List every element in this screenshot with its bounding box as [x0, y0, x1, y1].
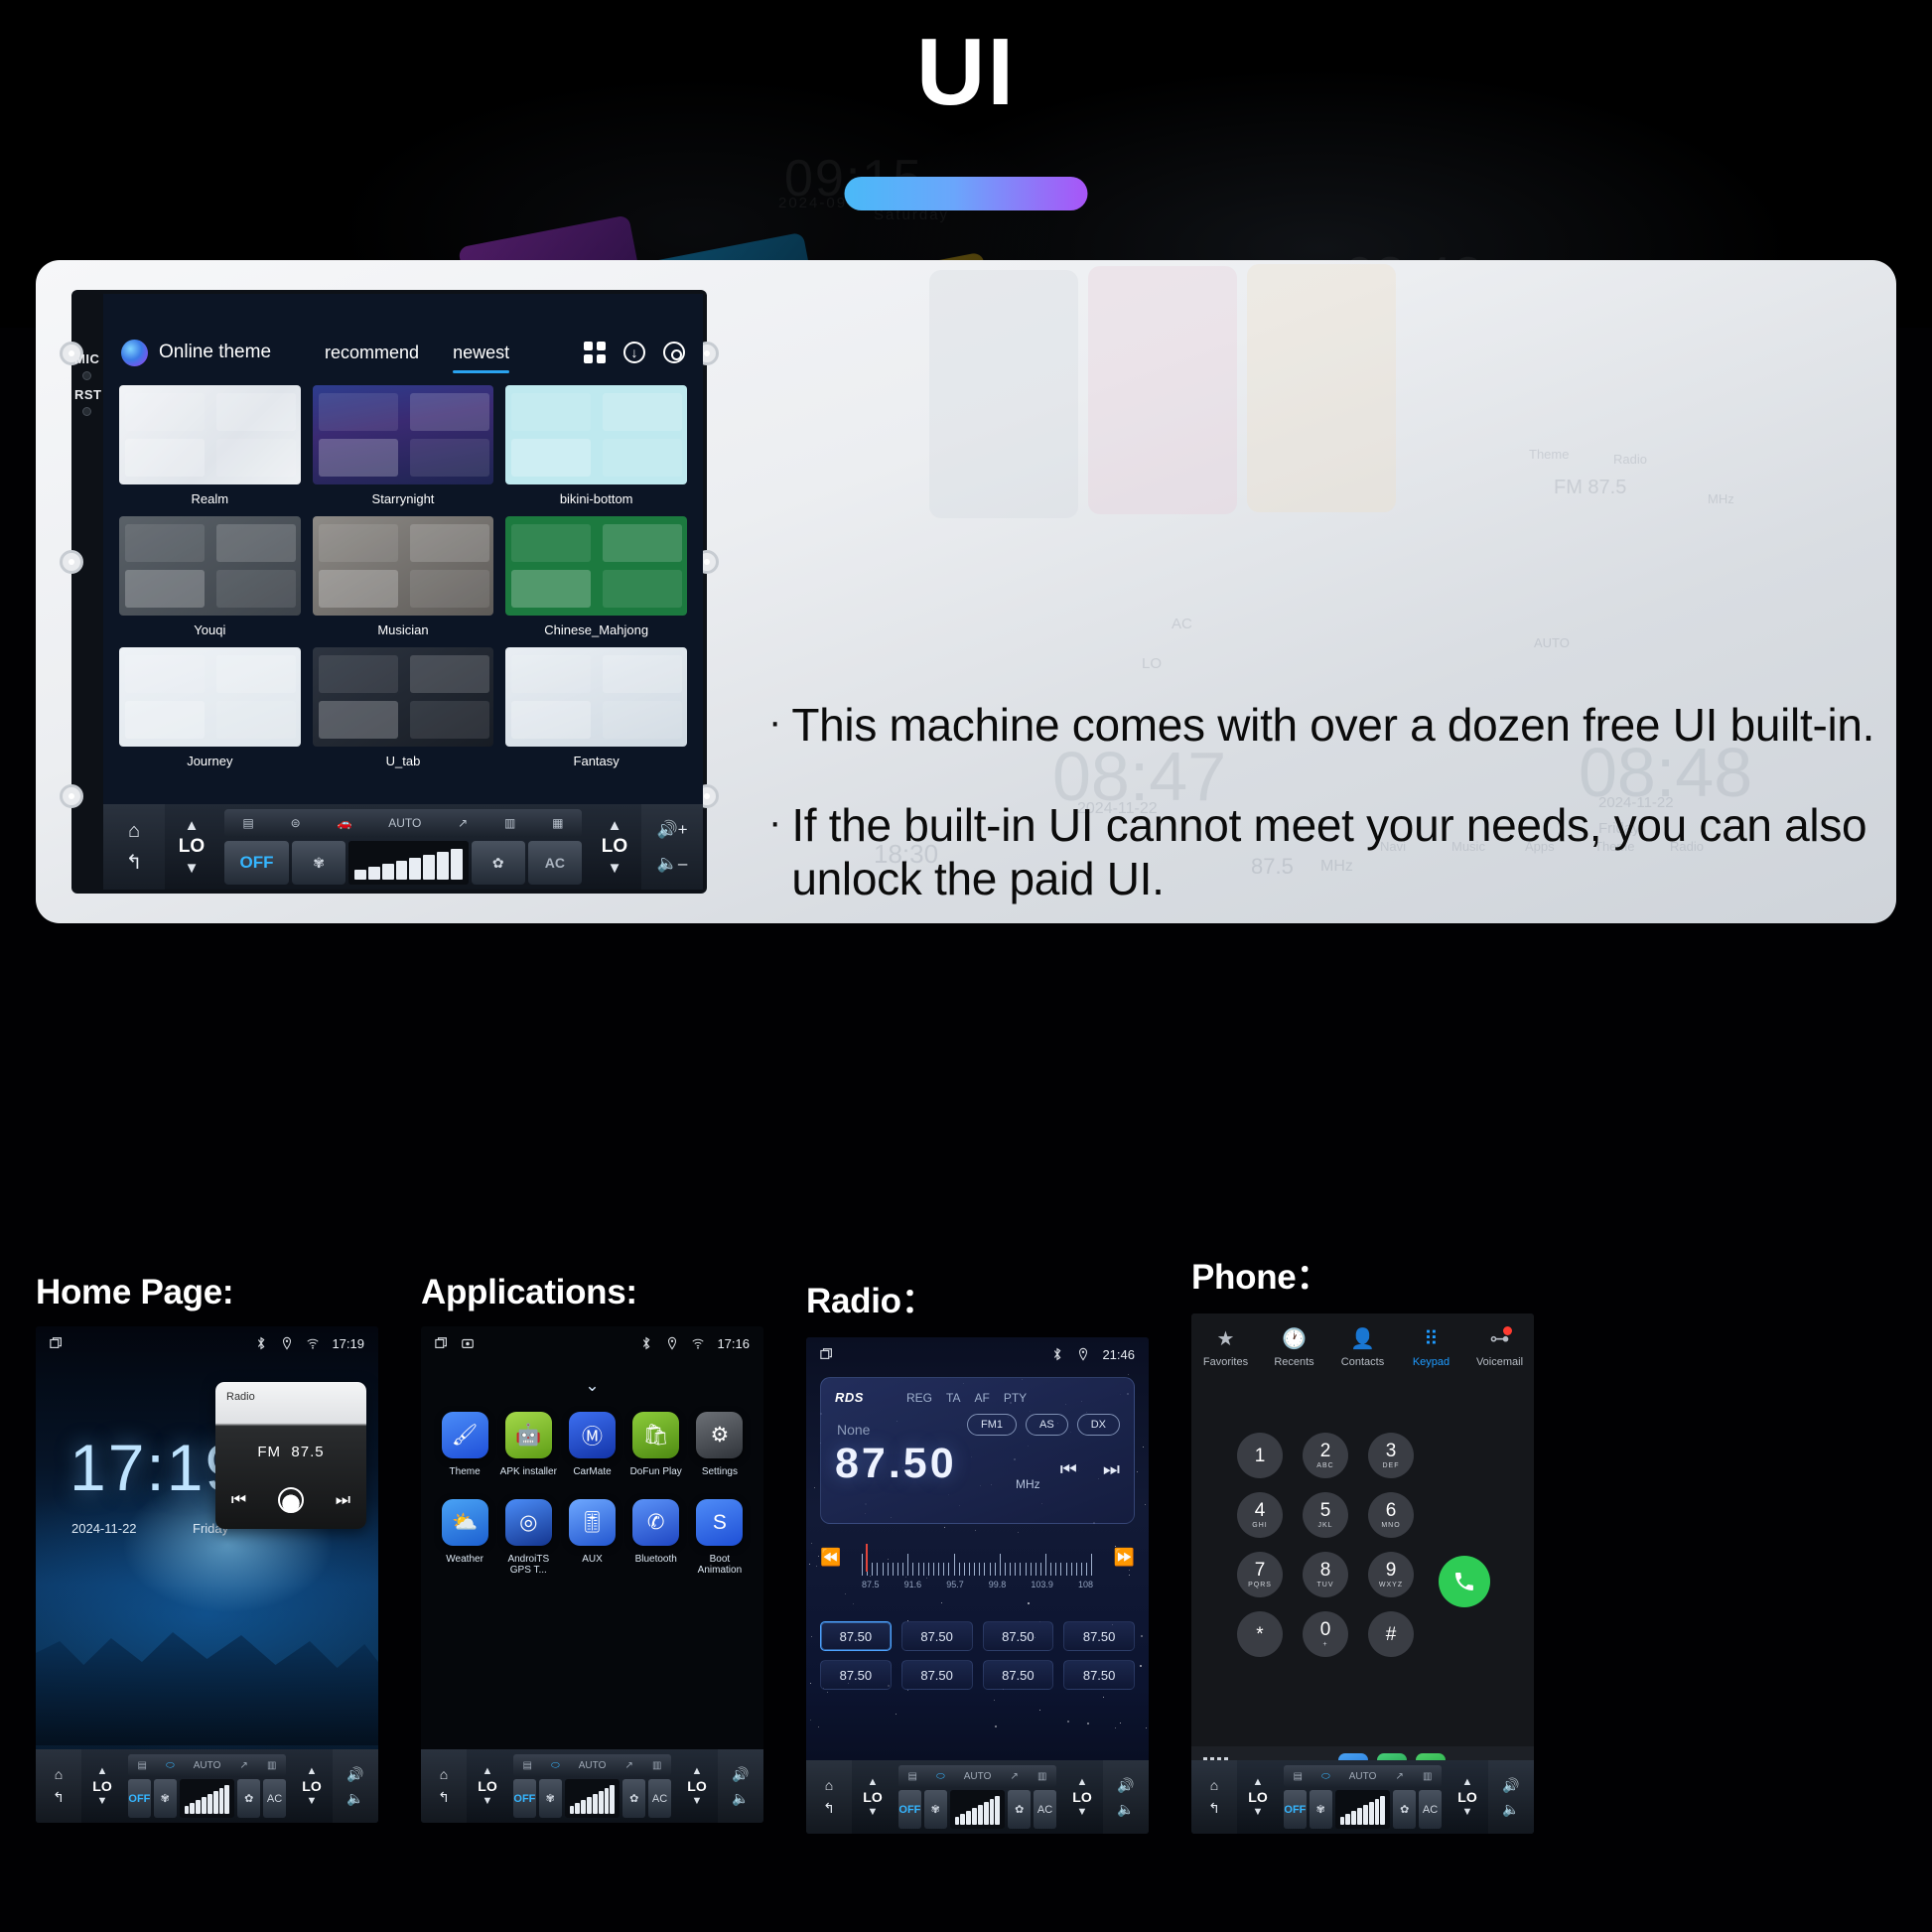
- app-label: DoFun Play: [630, 1466, 682, 1477]
- app-icon: ⛅: [442, 1499, 488, 1546]
- feature-panel: 08:472024-11-2208:482024-11-22Friday18:3…: [36, 260, 1896, 923]
- fan-down-icon[interactable]: ✾: [1310, 1790, 1332, 1829]
- temp-down-icon[interactable]: ▼: [483, 1795, 493, 1807]
- radio-preset[interactable]: 87.50: [983, 1621, 1054, 1651]
- key-number: 7: [1255, 1561, 1266, 1580]
- fan-level-bars[interactable]: [348, 841, 468, 885]
- radio-preset[interactable]: 87.50: [820, 1660, 892, 1690]
- app-item[interactable]: SBoot Animation: [688, 1499, 752, 1576]
- auto-label[interactable]: AUTO: [194, 1760, 221, 1771]
- seat-heat-icon[interactable]: ▤: [908, 1771, 917, 1782]
- temp-up-icon[interactable]: ▲: [868, 1776, 879, 1788]
- dial-tick: [974, 1563, 975, 1576]
- ac-button[interactable]: AC: [263, 1779, 286, 1818]
- back-icon[interactable]: ↰: [53, 1789, 65, 1806]
- front-defrost-icon[interactable]: ▥: [1423, 1771, 1432, 1782]
- ac-button[interactable]: AC: [1034, 1790, 1056, 1829]
- preset-grid: 87.5087.5087.5087.5087.5087.5087.5087.50: [820, 1621, 1135, 1690]
- theme-name: Starrynight: [313, 491, 494, 506]
- fan-up-icon[interactable]: ✿: [1393, 1790, 1416, 1829]
- radio-preset[interactable]: 87.50: [820, 1621, 892, 1651]
- theme-store-header: Online theme recommend newest: [103, 324, 703, 381]
- radio-widget[interactable]: Radio FM 87.5 ⏮ ⏭: [215, 1382, 366, 1529]
- temp-left-value: LO: [863, 1789, 882, 1805]
- radio-preset[interactable]: 87.50: [901, 1621, 973, 1651]
- radio-preset[interactable]: 87.50: [901, 1660, 973, 1690]
- panel-ghost-text: LO: [1142, 655, 1162, 672]
- climate-buttons-radio: OFF ✾ ✿ AC: [898, 1790, 1056, 1829]
- back-icon[interactable]: ↰: [823, 1800, 835, 1817]
- home-icon[interactable]: ⌂: [440, 1766, 448, 1782]
- radio-widget-controls: ⏮ ⏭: [215, 1487, 366, 1513]
- theme-widget-preview: [319, 439, 398, 477]
- fan-off-button[interactable]: OFF: [898, 1790, 921, 1829]
- volume-down-icon[interactable]: 🔈: [1502, 1801, 1519, 1818]
- rds-label: RDS: [835, 1390, 864, 1405]
- theme-card[interactable]: Starrynight: [313, 385, 494, 506]
- fan-level-bars[interactable]: [180, 1779, 235, 1818]
- key-number: 4: [1255, 1501, 1266, 1520]
- fan-off-button[interactable]: OFF: [1284, 1790, 1307, 1829]
- temp-left-value: LO: [179, 836, 205, 858]
- climate-bar-radio: ⌂↰ ▲ LO ▼ ▤ ⬭ AUTO ↗ ▥ OFF: [806, 1760, 1149, 1834]
- phone-tab-recents[interactable]: 🕐Recents: [1260, 1329, 1328, 1391]
- status-time-apps: 17:16: [717, 1336, 750, 1351]
- dial-tick: [1071, 1563, 1072, 1576]
- radio-dial[interactable]: ⏪ 87.591.695.799.8103.9108 ⏩: [820, 1542, 1135, 1611]
- star: [810, 1683, 811, 1684]
- radio-widget-freq: FM 87.5: [215, 1444, 366, 1460]
- fan-up-icon[interactable]: ✿: [622, 1779, 645, 1818]
- dial-next-icon[interactable]: ⏩: [1114, 1548, 1135, 1568]
- dial-tick: [928, 1563, 929, 1576]
- temp-up-icon[interactable]: ▲: [1253, 1776, 1264, 1788]
- download-icon[interactable]: [623, 342, 645, 363]
- recents-icon[interactable]: [435, 1336, 449, 1350]
- theme-widget-preview: [125, 393, 205, 431]
- dial-key-*[interactable]: *: [1237, 1611, 1283, 1657]
- app-item[interactable]: ⚙Settings: [688, 1412, 752, 1477]
- radio-widget-value: 87.5: [291, 1444, 324, 1460]
- dial-tick: [959, 1563, 960, 1576]
- phone-tab-keypad[interactable]: ⠿Keypad: [1397, 1329, 1465, 1391]
- fan-down-icon[interactable]: ✾: [292, 841, 345, 885]
- temp-down-icon[interactable]: ▼: [97, 1795, 108, 1807]
- key-letters: TUV: [1317, 1582, 1334, 1588]
- radio-tags: REGTAAFPTY: [906, 1391, 1027, 1405]
- radio-seek-buttons: ⏮ ⏭: [1060, 1459, 1120, 1481]
- dial-tick: [995, 1563, 996, 1576]
- temp-left-phone[interactable]: ▲ LO ▼: [1237, 1776, 1279, 1818]
- seat-heat-icon[interactable]: ▤: [523, 1760, 532, 1771]
- ac-button[interactable]: AC: [1419, 1790, 1442, 1829]
- theme-card[interactable]: Youqi: [119, 516, 301, 637]
- home-icon[interactable]: ⌂: [1210, 1777, 1218, 1793]
- temp-left-radio[interactable]: ▲ LO ▼: [852, 1776, 894, 1818]
- recents-icon[interactable]: [50, 1336, 64, 1350]
- radio-tag[interactable]: REG: [906, 1391, 932, 1405]
- climate-bar: ⌂ ↰ ▲ LO ▼ ▤ ⊜ 🚗 AUTO ↗: [103, 804, 703, 890]
- nav-buttons-radio: ⌂↰: [806, 1760, 852, 1834]
- seek-next-icon[interactable]: ⏭: [1103, 1459, 1120, 1481]
- dial-tick: [918, 1563, 919, 1576]
- climate-bar-home: ⌂↰ ▲ LO ▼ ▤ ⬭ AUTO ↗ ▥ OFF: [36, 1749, 378, 1823]
- radio-preset[interactable]: 87.50: [1063, 1621, 1135, 1651]
- rear-defrost-icon[interactable]: ⊜: [291, 816, 301, 830]
- dial-key-3[interactable]: 3DEF: [1368, 1433, 1414, 1478]
- back-icon[interactable]: ↰: [1208, 1800, 1220, 1817]
- radio-tag[interactable]: AF: [974, 1391, 989, 1405]
- auto-label[interactable]: AUTO: [964, 1771, 992, 1782]
- dial-tick: [1045, 1554, 1046, 1576]
- dial-tick: [938, 1563, 939, 1576]
- radio-button-fm1[interactable]: FM1: [967, 1414, 1017, 1436]
- app-icon: ⚙: [696, 1412, 743, 1458]
- temp-up-icon[interactable]: ▲: [692, 1765, 703, 1777]
- dial-key-8[interactable]: 8TUV: [1303, 1552, 1348, 1597]
- temp-right[interactable]: ▲ LO ▼: [588, 817, 641, 877]
- temp-down-icon[interactable]: ▼: [307, 1795, 318, 1807]
- radio-button-dx[interactable]: DX: [1077, 1414, 1120, 1436]
- radio-mode-buttons: FM1ASDX: [967, 1414, 1120, 1436]
- power-icon[interactable]: [278, 1487, 304, 1513]
- temp-down-icon[interactable]: ▼: [868, 1806, 879, 1818]
- theme-name: Youqi: [119, 622, 301, 637]
- fan-bar: [423, 855, 435, 880]
- star: [994, 1700, 995, 1701]
- grid-icon[interactable]: [584, 342, 606, 363]
- phone-tab-contacts[interactable]: 👤Contacts: [1328, 1329, 1397, 1391]
- app-item[interactable]: ⛅Weather: [433, 1499, 496, 1576]
- theme-widget-preview: [410, 393, 489, 431]
- theme-widget-preview: [511, 655, 591, 693]
- dial-key-2[interactable]: 2ABC: [1303, 1433, 1348, 1478]
- temp-left-home[interactable]: ▲ LO ▼: [81, 1765, 123, 1807]
- temp-up-icon[interactable]: ▲: [483, 1765, 493, 1777]
- theme-card[interactable]: Musician: [313, 516, 494, 637]
- dial-label: 108: [1078, 1580, 1093, 1589]
- key-number: 1: [1255, 1447, 1266, 1465]
- app-item[interactable]: ✆Bluetooth: [624, 1499, 688, 1576]
- status-icons-radio: 21:46: [1050, 1347, 1135, 1362]
- key-number: 8: [1320, 1561, 1331, 1580]
- tab-recommend[interactable]: recommend: [325, 343, 419, 363]
- theme-widget-preview: [216, 524, 296, 562]
- temp-right-phone[interactable]: ▲ LO ▼: [1447, 1776, 1488, 1818]
- theme-widget-preview: [603, 655, 682, 693]
- bullet-item: · If the built-in UI cannot meet your ne…: [768, 799, 1896, 905]
- app-item[interactable]: 🛍DoFun Play: [624, 1412, 688, 1477]
- temp-up-icon[interactable]: ▲: [1077, 1776, 1088, 1788]
- dial-key-5[interactable]: 5JKL: [1303, 1492, 1348, 1538]
- radio-unit: MHz: [1016, 1477, 1040, 1491]
- temp-down-icon[interactable]: ▼: [1253, 1806, 1264, 1818]
- seat-heat-icon[interactable]: ▤: [138, 1760, 147, 1771]
- radio-tag[interactable]: PTY: [1004, 1391, 1027, 1405]
- section-heading-apps: Applications:: [421, 1273, 763, 1312]
- climate-modes: ▤ ⊜ 🚗 AUTO ↗ ▥ ▦: [224, 809, 582, 837]
- home-icon[interactable]: ⌂: [55, 1766, 63, 1782]
- theme-card[interactable]: Journey: [119, 647, 301, 768]
- wifi-icon: [306, 1336, 320, 1350]
- temp-left-value: LO: [1248, 1789, 1267, 1805]
- next-icon[interactable]: ⏭: [336, 1490, 350, 1510]
- theme-card[interactable]: bikini-bottom: [505, 385, 687, 506]
- phone-tab-voicemail[interactable]: ⊶Voicemail: [1465, 1329, 1534, 1391]
- panel-ghost-text: AUTO: [1534, 635, 1570, 650]
- volume-up-icon[interactable]: 🔊: [732, 1766, 749, 1783]
- temp-down-icon[interactable]: ▼: [692, 1795, 703, 1807]
- seek-prev-icon[interactable]: ⏮: [1060, 1459, 1077, 1481]
- seat-heat-icon[interactable]: ▤: [242, 816, 253, 830]
- home-icon[interactable]: ⌂: [825, 1777, 833, 1793]
- theme-name: U_tab: [313, 754, 494, 768]
- dial-tick: [893, 1563, 894, 1576]
- recirculate-icon[interactable]: 🚗: [337, 816, 351, 830]
- seat-vent-icon[interactable]: ▦: [552, 816, 563, 830]
- dial-tick: [1000, 1554, 1001, 1576]
- temp-left-value: LO: [478, 1778, 496, 1794]
- settings-icon[interactable]: [663, 342, 685, 363]
- temp-right-up-icon[interactable]: ▲: [608, 817, 622, 834]
- dial-tick: [1020, 1563, 1021, 1576]
- section-heading-radio: Radio：: [806, 1273, 1149, 1323]
- front-defrost-icon[interactable]: ▥: [504, 816, 515, 830]
- dial-tick: [883, 1563, 884, 1576]
- theme-card[interactable]: Realm: [119, 385, 301, 506]
- air-up-icon[interactable]: ↗: [458, 816, 468, 830]
- home-icon[interactable]: ⌂: [128, 821, 140, 841]
- temp-left-apps[interactable]: ▲ LO ▼: [467, 1765, 508, 1807]
- radio-preset[interactable]: 87.50: [1063, 1660, 1135, 1690]
- radio-tag[interactable]: TA: [946, 1391, 960, 1405]
- fan-down-icon[interactable]: ✾: [539, 1779, 562, 1818]
- temp-right-down-icon[interactable]: ▼: [608, 860, 622, 877]
- theme-widget-preview: [410, 701, 489, 739]
- dial-label: 91.6: [904, 1580, 922, 1589]
- volume-down-icon[interactable]: 🔈–: [657, 854, 688, 874]
- recirculate-icon[interactable]: ⬭: [1321, 1771, 1330, 1782]
- volume-down-icon[interactable]: 🔈: [346, 1790, 363, 1807]
- panel-tile-c: [1247, 264, 1396, 512]
- air-up-icon[interactable]: ↗: [239, 1760, 247, 1771]
- tab-icon: ⠿: [1424, 1329, 1439, 1349]
- app-grid: 🖌Theme🤖APK installerⓂCarMate🛍DoFun Play⚙…: [433, 1412, 752, 1576]
- title-underline-bar: [845, 177, 1088, 210]
- temp-down-icon[interactable]: ▼: [1077, 1806, 1088, 1818]
- dial-key-#[interactable]: #: [1368, 1611, 1414, 1657]
- key-letters: JKL: [1317, 1522, 1332, 1529]
- app-label: Theme: [450, 1466, 481, 1477]
- dial-key-9[interactable]: 9WXYZ: [1368, 1552, 1414, 1597]
- air-up-icon[interactable]: ↗: [624, 1760, 632, 1771]
- volume-up-icon[interactable]: 🔊+: [656, 820, 687, 840]
- theme-widget-preview: [603, 393, 682, 431]
- radio-preset[interactable]: 87.50: [983, 1660, 1054, 1690]
- bullet-marker: ·: [768, 799, 781, 905]
- theme-store-logo-icon: [121, 340, 148, 366]
- recirculate-icon[interactable]: ⬭: [551, 1760, 560, 1771]
- volume-up-icon[interactable]: 🔊: [1117, 1777, 1134, 1794]
- dial-label: 95.7: [946, 1580, 964, 1589]
- theme-widget-preview: [216, 701, 296, 739]
- back-icon[interactable]: ↰: [126, 853, 143, 873]
- volume-up-icon[interactable]: 🔊: [346, 1766, 363, 1783]
- ac-button[interactable]: AC: [528, 841, 582, 885]
- seat-heat-icon[interactable]: ▤: [1294, 1771, 1303, 1782]
- app-item[interactable]: 🖌Theme: [433, 1412, 496, 1477]
- front-defrost-icon[interactable]: ▥: [1037, 1771, 1046, 1782]
- home-date: 2024-11-22: [71, 1521, 137, 1536]
- theme-grid: RealmStarrynightbikini-bottomYouqiMusici…: [119, 385, 687, 768]
- recirculate-icon[interactable]: ⬭: [166, 1760, 175, 1771]
- radio-widget-band: FM: [257, 1444, 281, 1460]
- theme-name: Chinese_Mahjong: [505, 622, 687, 637]
- air-up-icon[interactable]: ↗: [1010, 1771, 1018, 1782]
- radio-frequency: 87.50: [835, 1440, 957, 1488]
- climate-controls-home: ▤ ⬭ AUTO ↗ ▥ OFF ✾ ✿ AC: [123, 1749, 291, 1823]
- prev-icon[interactable]: ⏮: [231, 1490, 246, 1510]
- theme-card[interactable]: Fantasy: [505, 647, 687, 768]
- climate-bar-apps: ⌂↰ ▲ LO ▼ ▤ ⬭ AUTO ↗ ▥ OFF: [421, 1749, 763, 1823]
- theme-widget-preview: [603, 439, 682, 477]
- app-icon: Ⓜ: [569, 1412, 616, 1458]
- dial-needle: [866, 1544, 868, 1572]
- theme-widget-preview: [319, 701, 398, 739]
- fan-level-bars[interactable]: [950, 1790, 1006, 1829]
- theme-widget-preview: [511, 393, 591, 431]
- auto-label[interactable]: AUTO: [388, 816, 421, 830]
- ac-button[interactable]: AC: [648, 1779, 671, 1818]
- auto-label[interactable]: AUTO: [1349, 1771, 1377, 1782]
- temp-left-up-icon[interactable]: ▲: [185, 817, 200, 834]
- dial-tick: [1066, 1563, 1067, 1576]
- theme-widget-preview: [125, 655, 205, 693]
- dial-tick: [923, 1563, 924, 1576]
- climate-controls-radio: ▤ ⬭ AUTO ↗ ▥ OFF ✾ ✿ AC: [894, 1760, 1061, 1834]
- dial-tick: [897, 1563, 898, 1576]
- fan-bar: [354, 870, 366, 880]
- call-button[interactable]: [1439, 1556, 1490, 1607]
- theme-widget-preview: [603, 701, 682, 739]
- fan-level-bars[interactable]: [565, 1779, 621, 1818]
- dial-key-1[interactable]: 1: [1237, 1433, 1283, 1478]
- fan-level-bars[interactable]: [1335, 1790, 1391, 1829]
- front-defrost-icon[interactable]: ▥: [267, 1760, 276, 1771]
- tab-icon: ★: [1217, 1329, 1235, 1349]
- section-radio: Radio： 21:46 RDS REGTAAFPTY None 87.50 M…: [806, 1273, 1149, 1834]
- radio-button-as[interactable]: AS: [1026, 1414, 1068, 1436]
- fan-down-icon[interactable]: ✾: [154, 1779, 177, 1818]
- device-screen: Online theme recommend newest RealmStarr…: [103, 294, 703, 890]
- auto-label[interactable]: AUTO: [579, 1760, 607, 1771]
- bullet-marker: ·: [768, 699, 781, 752]
- temp-right-value: LO: [302, 1778, 321, 1794]
- dial-tick: [1015, 1563, 1016, 1576]
- tab-newest[interactable]: newest: [453, 343, 509, 363]
- key-letters: WXYZ: [1379, 1582, 1403, 1588]
- tab-label: Contacts: [1341, 1356, 1384, 1368]
- tab-icon: 🕐: [1282, 1329, 1307, 1349]
- app-item[interactable]: 🤖APK installer: [496, 1412, 560, 1477]
- app-label: Boot Animation: [688, 1554, 752, 1576]
- volume-down-icon[interactable]: 🔈: [1117, 1801, 1134, 1818]
- dial-tick: [964, 1563, 965, 1576]
- app-item[interactable]: ◎AndroiTS GPS T...: [496, 1499, 560, 1576]
- temp-up-icon[interactable]: ▲: [307, 1765, 318, 1777]
- volume-controls: 🔊+ 🔈–: [641, 804, 703, 890]
- fan-up-icon[interactable]: ✿: [472, 841, 525, 885]
- dial-tick: [969, 1563, 970, 1576]
- fan-off-button[interactable]: OFF: [128, 1779, 151, 1818]
- dial-key-7[interactable]: 7PQRS: [1237, 1552, 1283, 1597]
- temp-right-value: LO: [687, 1778, 706, 1794]
- volume-down-icon[interactable]: 🔈: [732, 1790, 749, 1807]
- fan-off-button[interactable]: OFF: [224, 841, 289, 885]
- fan-off-button[interactable]: OFF: [513, 1779, 536, 1818]
- app-icon: 🎚: [569, 1499, 616, 1546]
- temp-left-value: LO: [92, 1778, 111, 1794]
- dial-tick: [907, 1554, 908, 1576]
- location-icon: [280, 1336, 294, 1350]
- app-item[interactable]: 🎚AUX: [560, 1499, 623, 1576]
- nav-buttons-apps: ⌂↰: [421, 1749, 467, 1823]
- temp-right-apps[interactable]: ▲ LO ▼: [676, 1765, 718, 1807]
- phone-tab-favorites[interactable]: ★Favorites: [1191, 1329, 1260, 1391]
- dial-prev-icon[interactable]: ⏪: [820, 1548, 841, 1568]
- panel-ghost-text: AC: [1172, 616, 1192, 632]
- recirculate-icon[interactable]: ⬭: [936, 1771, 945, 1782]
- recents-icon[interactable]: [820, 1347, 834, 1361]
- temp-up-icon[interactable]: ▲: [1462, 1776, 1473, 1788]
- section-phone: Phone： ★Favorites🕐Recents👤Contacts⠿Keypa…: [1191, 1249, 1534, 1834]
- theme-card[interactable]: Chinese_Mahjong: [505, 516, 687, 637]
- fan-up-icon[interactable]: ✿: [1008, 1790, 1031, 1829]
- temp-right-radio[interactable]: ▲ LO ▼: [1061, 1776, 1103, 1818]
- back-icon[interactable]: ↰: [438, 1789, 450, 1806]
- climate-buttons-apps: OFF ✾ ✿ AC: [513, 1779, 671, 1818]
- chevron-down-icon[interactable]: ⌄: [585, 1376, 599, 1396]
- tab-label: Voicemail: [1476, 1356, 1523, 1368]
- reset-hole[interactable]: [82, 407, 91, 416]
- temp-right-home[interactable]: ▲ LO ▼: [291, 1765, 333, 1807]
- fan-up-icon[interactable]: ✿: [237, 1779, 260, 1818]
- theme-card[interactable]: U_tab: [313, 647, 494, 768]
- key-letters: PQRS: [1248, 1582, 1272, 1588]
- screenshot-icon[interactable]: [461, 1336, 475, 1350]
- dial-tick: [1060, 1563, 1061, 1576]
- volume-up-icon[interactable]: 🔊: [1502, 1777, 1519, 1794]
- star: [1128, 1374, 1129, 1375]
- app-item[interactable]: ⓂCarMate: [560, 1412, 623, 1477]
- theme-widget-preview: [125, 439, 205, 477]
- dial-key-4[interactable]: 4GHI: [1237, 1492, 1283, 1538]
- panel-ghost-text: Theme: [1529, 447, 1569, 462]
- temp-left[interactable]: ▲ LO ▼: [165, 817, 218, 877]
- air-up-icon[interactable]: ↗: [1395, 1771, 1403, 1782]
- dial-tick: [1035, 1563, 1036, 1576]
- temp-down-icon[interactable]: ▼: [1462, 1806, 1473, 1818]
- fan-down-icon[interactable]: ✾: [924, 1790, 947, 1829]
- temp-up-icon[interactable]: ▲: [97, 1765, 108, 1777]
- temp-left-down-icon[interactable]: ▼: [185, 860, 200, 877]
- front-defrost-icon[interactable]: ▥: [652, 1760, 661, 1771]
- dial-key-6[interactable]: 6MNO: [1368, 1492, 1414, 1538]
- apps-screen-device: 17:16 ⌄ 🖌Theme🤖APK installerⓂCarMate🛍DoF…: [421, 1326, 763, 1823]
- theme-thumbnail: [313, 516, 494, 616]
- dial-key-0[interactable]: 0+: [1303, 1611, 1348, 1657]
- theme-name: Fantasy: [505, 754, 687, 768]
